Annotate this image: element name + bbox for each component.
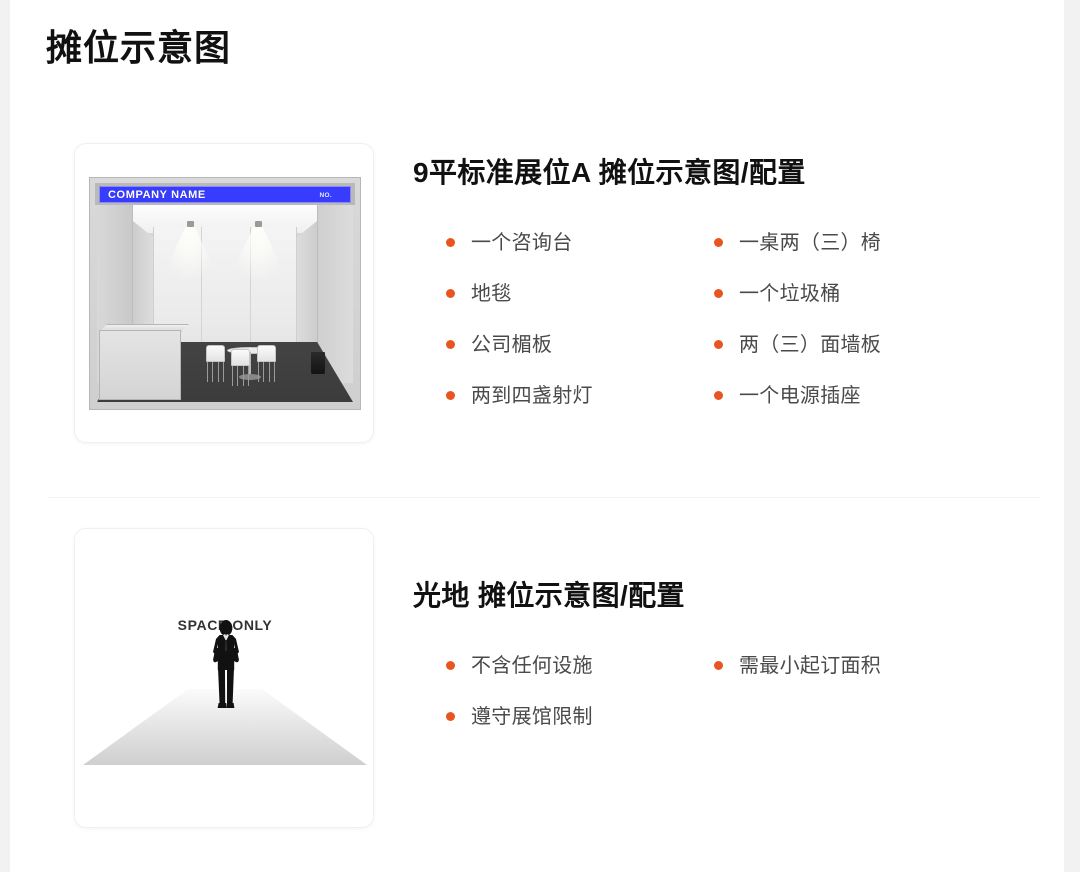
bullet-dot-icon [714,340,723,349]
list-item: 一个电源插座 [681,370,949,421]
page-surface: 摊位示意图 [10,0,1064,872]
list-item: 遵守展馆限制 [413,691,681,742]
page-title: 摊位示意图 [46,26,231,69]
list-item-label: 两（三）面墙板 [739,331,881,359]
bullet-dot-icon [446,238,455,247]
booth-chair-legs [232,366,249,386]
bullet-dot-icon [446,391,455,400]
list-item-label: 地毯 [471,280,512,308]
list-item: 不含任何设施 [413,640,681,691]
list-item: 一桌两（三）椅 [681,217,949,268]
list-item: 地毯 [413,268,681,319]
booth-chair [257,345,276,362]
booth-number-label: NO. [320,191,332,201]
list-item-label: 一桌两（三）椅 [739,229,881,257]
businessman-silhouette-icon [206,618,246,714]
bullet-dot-icon [714,238,723,247]
list-item: 需最小起订面积 [681,640,949,691]
booth-fascia-panel: COMPANY NAME NO. [99,186,351,203]
standard-booth-illustration: COMPANY NAME NO. [89,177,361,410]
standard-booth-heading: 9平标准展位A 摊位示意图/配置 [413,155,1033,191]
booth-chair-legs [258,362,275,382]
bullet-dot-icon [446,661,455,670]
company-name-text: COMPANY NAME [108,188,206,203]
booth-chair [206,345,225,362]
bullet-dot-icon [714,391,723,400]
standard-booth-feature-list: 一个咨询台 一桌两（三）椅 地毯 一个垃圾桶 公司楣板 [413,217,1033,421]
space-only-heading: 光地 摊位示意图/配置 [413,578,1033,614]
list-item: 一个垃圾桶 [681,268,949,319]
section-standard-booth: COMPANY NAME NO. 9平标准展位A 摊位示意图/配置 一个咨询台 … [10,130,1064,480]
list-item-label: 不含任何设施 [471,652,593,680]
list-item-empty [681,691,949,742]
list-item: 两到四盏射灯 [413,370,681,421]
section-space-only: SPACE ONLY [10,508,1064,848]
space-only-text-column: 光地 摊位示意图/配置 不含任何设施 需最小起订面积 遵守展馆限制 [413,578,1033,742]
booth-chair [231,349,250,366]
list-item: 一个咨询台 [413,217,681,268]
list-item-label: 一个咨询台 [471,229,573,257]
booth-fascia-board: COMPANY NAME NO. [95,183,355,205]
bullet-dot-icon [446,340,455,349]
bullet-dot-icon [446,289,455,298]
spotlight-left-icon [187,221,194,227]
bullet-dot-icon [714,661,723,670]
bullet-dot-icon [446,712,455,721]
space-only-thumbnail-card[interactable]: SPACE ONLY [74,528,374,828]
list-item-label: 一个垃圾桶 [739,280,841,308]
list-item: 公司楣板 [413,319,681,370]
bullet-dot-icon [714,289,723,298]
space-only-feature-list: 不含任何设施 需最小起订面积 遵守展馆限制 [413,640,1033,742]
spotlight-right-icon [255,221,262,227]
booth-waste-bin [311,352,325,374]
space-only-illustration: SPACE ONLY [75,529,374,828]
standard-booth-text-column: 9平标准展位A 摊位示意图/配置 一个咨询台 一桌两（三）椅 地毯 一个垃圾桶 [413,155,1033,421]
list-item-label: 遵守展馆限制 [471,703,593,731]
booth-chair-legs [207,362,224,382]
list-item-label: 公司楣板 [471,331,552,359]
standard-booth-thumbnail-card[interactable]: COMPANY NAME NO. [74,143,374,443]
section-divider [48,497,1040,498]
list-item: 两（三）面墙板 [681,319,949,370]
list-item-label: 一个电源插座 [739,382,861,410]
booth-reception-counter [99,330,181,400]
list-item-label: 两到四盏射灯 [471,382,593,410]
list-item-label: 需最小起订面积 [739,652,881,680]
